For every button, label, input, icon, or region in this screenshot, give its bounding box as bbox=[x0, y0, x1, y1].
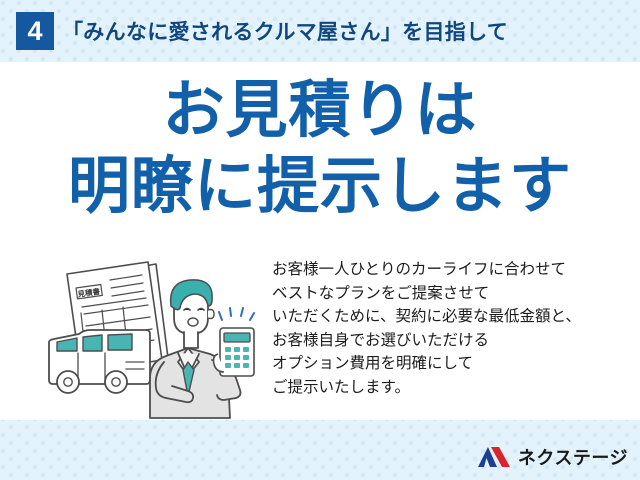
body-copy-line: お客様一人ひとりのカーライフに合わせて bbox=[272, 258, 632, 282]
headline-line-2: 明瞭に提示します bbox=[0, 156, 640, 218]
headline-block: お見積りは 明瞭に提示します bbox=[0, 80, 640, 218]
header-bar: 4 「みんなに愛されるクルマ屋さん」を目指して bbox=[0, 0, 640, 62]
body-copy-line: いただくために、契約に必要な最低金額と、 bbox=[272, 305, 632, 329]
body-copy-line: ベストなプランをご提案させて bbox=[272, 282, 632, 306]
brand-logo: ネクステージ bbox=[477, 444, 628, 470]
content-panel: お見積りは 明瞭に提示します お客様一人ひとりのカーライフに合わせて ベストなプ… bbox=[0, 62, 640, 420]
body-copy-line: オプション費用を明確にして bbox=[272, 352, 632, 376]
illustration: 見積書 bbox=[38, 250, 268, 422]
body-copy: お客様一人ひとりのカーライフに合わせて ベストなプランをご提案させて いただくた… bbox=[272, 258, 632, 399]
brand-logo-text: ネクステージ bbox=[518, 444, 628, 470]
advertisement-canvas: 4 「みんなに愛されるクルマ屋さん」を目指して お見積りは 明瞭に提示します お… bbox=[0, 0, 640, 480]
body-copy-line: お客様自身でお選びいただける bbox=[272, 329, 632, 353]
nextage-n-mark bbox=[477, 446, 511, 468]
header-title: 「みんなに愛されるクルマ屋さん」を目指して bbox=[62, 16, 508, 46]
body-copy-line: ご提示いたします。 bbox=[272, 376, 632, 400]
section-number-badge: 4 bbox=[16, 12, 54, 50]
headline-line-1: お見積りは bbox=[0, 80, 640, 142]
